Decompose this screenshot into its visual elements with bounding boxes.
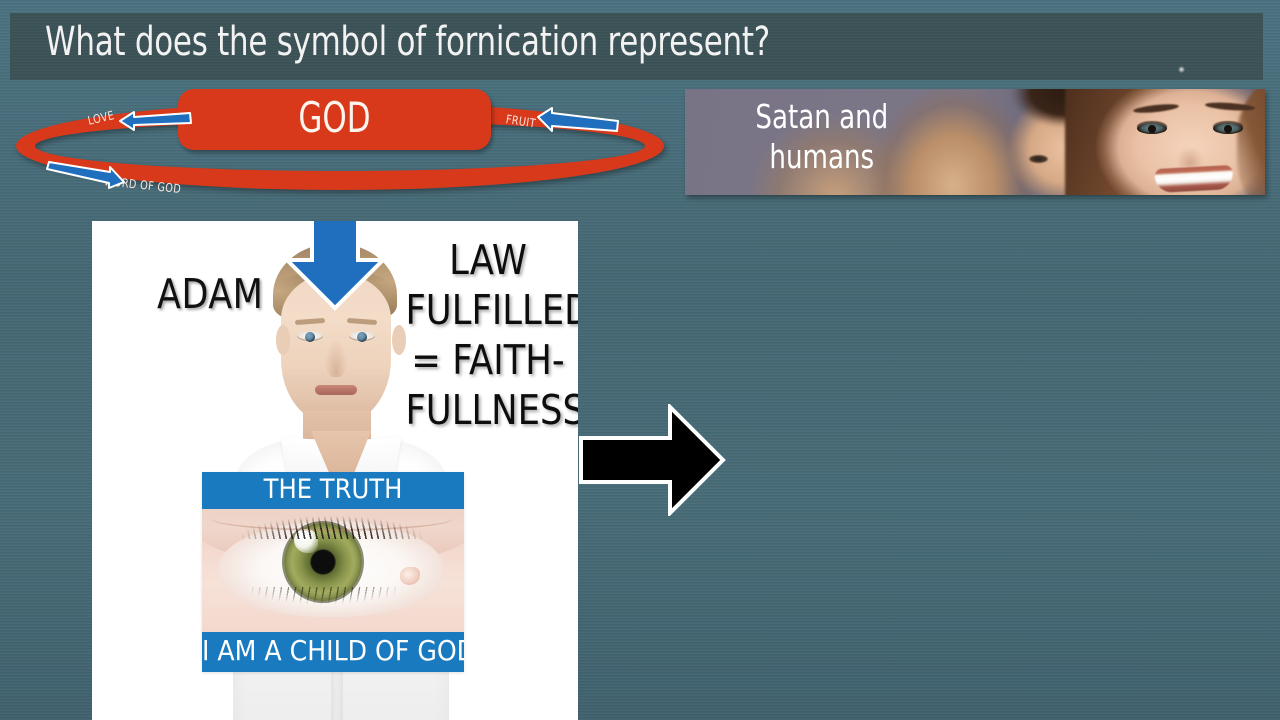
- man-iris-right: [357, 332, 367, 342]
- arrow-down-icon: [282, 221, 388, 312]
- page-title: What does the symbol of fornication repr…: [45, 19, 770, 65]
- eye-photo: [202, 509, 464, 632]
- god-box: GOD: [178, 89, 491, 150]
- photo-caption-line-1: Satan and: [725, 97, 919, 137]
- eye-lower-lashes: [224, 587, 424, 613]
- man-iris-left: [305, 332, 315, 342]
- man-nose: [325, 341, 347, 377]
- adam-white-card: ADAM LAW FULFILLED = FAITH- FULLNESS THE…: [92, 221, 578, 720]
- photo-girl-pupil-right: [1224, 125, 1232, 133]
- god-cycle-diagram: GOD LOVE FRUIT WORD OF GOD: [8, 86, 668, 201]
- arrow-right-icon-word-of-god: [46, 162, 124, 188]
- man-ear-left: [276, 325, 290, 355]
- law-line-4: FULLNESS: [405, 385, 570, 435]
- law-line-3: = FAITH-: [405, 335, 570, 385]
- man-ear-right: [392, 325, 406, 355]
- arrow-right-icon-black: [578, 404, 726, 516]
- truth-eye-card: THE TRUTH I AM A CHILD OF GOD: [202, 472, 464, 672]
- photo-boy-eye-left: [1029, 155, 1048, 163]
- dust-speck-icon: [1178, 66, 1185, 73]
- eye-upper-lashes: [212, 509, 452, 539]
- photo-girl-pupil-left: [1148, 125, 1156, 133]
- arrow-left-icon-fruit: [538, 108, 620, 132]
- photo-girl-smile: [1154, 165, 1233, 193]
- truth-bottom-banner: I AM A CHILD OF GOD: [202, 632, 464, 672]
- arrow-left-icon-love: [120, 110, 192, 132]
- law-fulfilled-label: LAW FULFILLED = FAITH- FULLNESS: [405, 235, 570, 435]
- slide-canvas: What does the symbol of fornication repr…: [0, 0, 1280, 720]
- law-line-2: FULFILLED: [405, 285, 570, 335]
- photo-caption-line-2: humans: [725, 137, 919, 177]
- adam-label: ADAM: [157, 270, 263, 318]
- title-band: What does the symbol of fornication repr…: [10, 13, 1263, 80]
- satan-and-humans-photo-panel: Satan and humans: [685, 89, 1265, 195]
- truth-top-banner: THE TRUTH: [202, 472, 464, 509]
- man-mouth: [315, 385, 357, 395]
- law-line-1: LAW: [405, 235, 570, 285]
- god-label: GOD: [206, 89, 463, 150]
- photo-girl-nose: [1177, 147, 1203, 167]
- photo-panel-caption: Satan and humans: [725, 97, 919, 177]
